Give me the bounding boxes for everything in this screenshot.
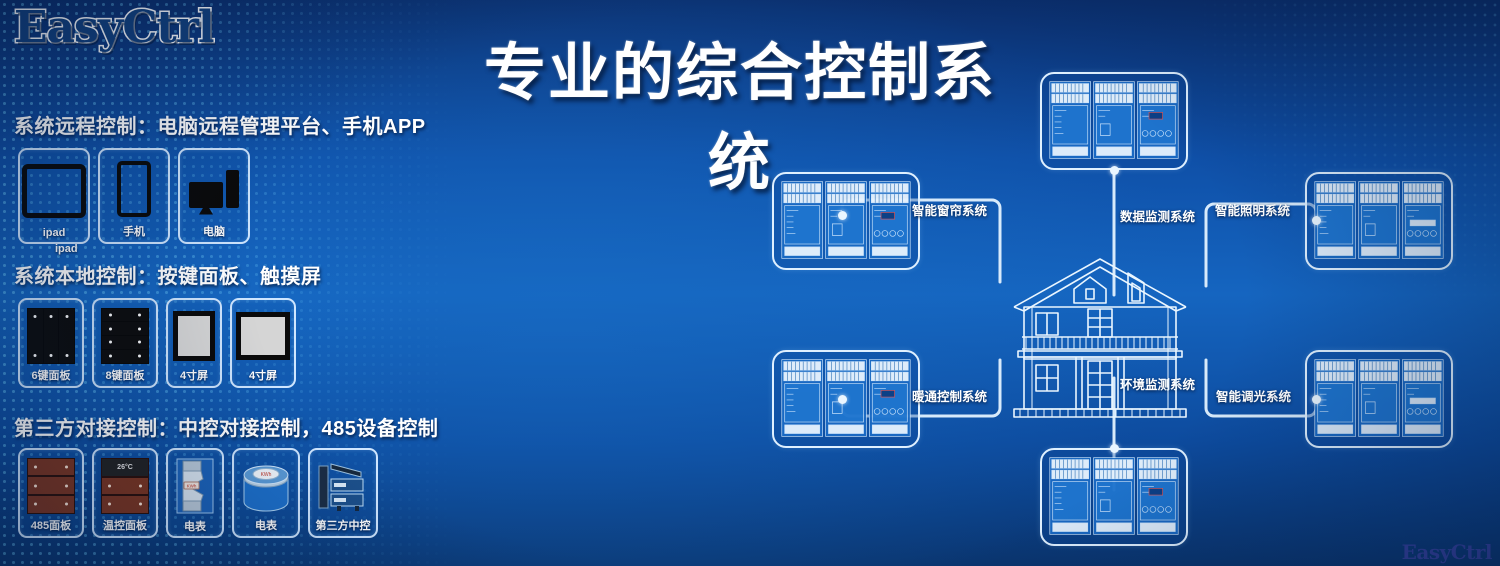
device-card-caption: 电表 (255, 514, 277, 533)
module-panel-dimming[interactable] (1305, 350, 1453, 448)
device-card-caption: 4寸屏 (249, 364, 277, 383)
section-heading-local-control: 系统本地控制：按键面板、触摸屏 (14, 260, 322, 289)
thermostat-display-value: 26°C (102, 459, 148, 476)
watermark: EasyCtrl (1402, 540, 1492, 564)
poster-canvas: EasyCtrl 专业的综合控制系统 系统远程控制：电脑远程管理平台、手机APP… (0, 0, 1500, 566)
device-card-caption: 电表 (184, 515, 206, 534)
connector-node-lighting (1312, 216, 1321, 225)
section-heading-third-party: 第三方对接控制：中控对接控制，485设备控制 (14, 412, 438, 441)
rs485-panel-icon (27, 457, 75, 514)
device-card-caption: 电脑 (203, 220, 225, 239)
section-heading-remote-control: 系统远程控制：电脑远程管理平台、手机APP (14, 110, 426, 139)
device-card-485-panel[interactable]: 485面板 (18, 448, 84, 538)
device-card-third-party-controller[interactable]: 第三方中控 (308, 448, 378, 538)
connector-node-hvac (838, 395, 847, 404)
stray-caption-ipad: ipad (55, 243, 78, 255)
device-card-ipad[interactable]: ipad (18, 148, 90, 244)
connector-node-curtain (838, 211, 847, 220)
device-card-6key-panel[interactable]: 6键面板 (18, 298, 84, 388)
device-card-caption: 485面板 (31, 514, 71, 533)
tablet-icon (22, 157, 86, 224)
controller-module-artwork (1042, 450, 1186, 544)
device-card-round-meter[interactable]: KWh 电表 (232, 448, 300, 538)
round-meter-icon: KWh (238, 457, 294, 514)
device-card-phone[interactable]: 手机 (98, 148, 170, 244)
controller-module-artwork (1042, 74, 1186, 168)
module-panel-lighting[interactable] (1305, 172, 1453, 270)
module-panel-data-monitoring[interactable] (1040, 72, 1188, 170)
eight-key-panel-icon (101, 307, 149, 364)
device-card-touchscreen-2[interactable]: 4寸屏 (230, 298, 296, 388)
device-card-caption: 温控面板 (103, 514, 147, 533)
device-card-caption: 8键面板 (105, 364, 144, 383)
module-panel-environment[interactable] (1040, 448, 1188, 546)
svg-text:KWh: KWh (187, 484, 197, 489)
system-topology-diagram: 智能窗帘系统 (720, 60, 1500, 566)
connector-node-data-monitoring (1110, 166, 1119, 175)
device-card-computer[interactable]: 电脑 (178, 148, 250, 244)
controller-module-artwork (774, 174, 918, 268)
module-panel-curtain[interactable] (772, 172, 920, 270)
device-card-caption: 手机 (123, 220, 145, 239)
thermostat-panel-icon: 26°C (101, 457, 149, 514)
diagram-label-hvac: 暖通控制系统 (912, 386, 987, 405)
connector-node-dimming (1312, 395, 1321, 404)
device-card-energy-meter[interactable]: KWh 电表 (166, 448, 224, 538)
desktop-computer-icon (189, 157, 239, 220)
device-card-caption: 6键面板 (31, 364, 70, 383)
brand-logo: EasyCtrl (14, 2, 214, 53)
diagram-label-data-monitoring: 数据监测系统 (1120, 206, 1195, 225)
connector-node-environment (1110, 444, 1119, 453)
card-row-third-party: 485面板 26°C 温控面板 KWh (18, 448, 378, 538)
six-key-panel-icon (27, 307, 75, 364)
third-party-controller-icon (315, 457, 371, 514)
svg-text:KWh: KWh (261, 472, 272, 478)
device-card-touchscreen-1[interactable]: 4寸屏 (166, 298, 222, 388)
device-card-thermostat-panel[interactable]: 26°C 温控面板 (92, 448, 158, 538)
touch-screen-icon (173, 307, 215, 364)
device-card-caption: 第三方中控 (316, 514, 371, 533)
smartphone-icon (117, 157, 151, 220)
card-row-local-control: 6键面板 8键面板 4寸屏 4寸屏 (18, 298, 296, 388)
diagram-label-dimming: 智能调光系统 (1216, 386, 1291, 405)
diagram-label-curtain: 智能窗帘系统 (912, 200, 987, 219)
device-card-caption: 4寸屏 (180, 364, 208, 383)
touch-screen-wide-icon (236, 307, 290, 364)
device-card-caption: ipad (43, 224, 66, 239)
controller-module-artwork (1307, 174, 1451, 268)
energy-meter-icon: KWh (173, 457, 217, 515)
device-card-8key-panel[interactable]: 8键面板 (92, 298, 158, 388)
controller-module-artwork (1307, 352, 1451, 446)
card-row-remote-control: ipad 手机 电脑 (18, 148, 250, 244)
villa-house-illustration (1000, 245, 1200, 435)
diagram-label-lighting: 智能照明系统 (1215, 200, 1290, 219)
